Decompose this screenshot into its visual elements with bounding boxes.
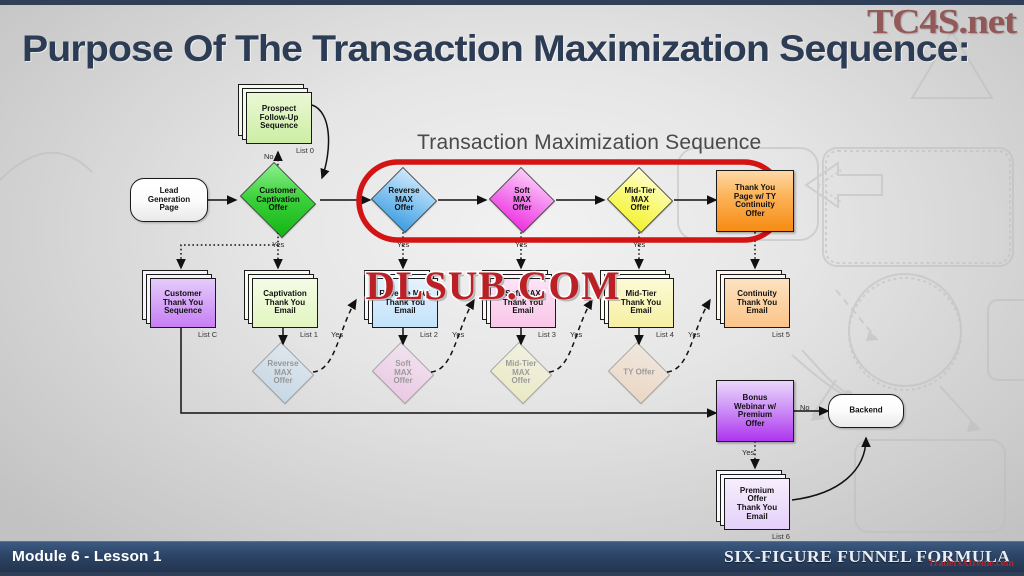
edge-label-yes-soft: Yes bbox=[515, 240, 527, 249]
list-label: List 4 bbox=[656, 330, 674, 339]
diamond-shape bbox=[240, 162, 316, 238]
node-midtier-max-offer[interactable]: Mid-Tier MAX Offer bbox=[606, 168, 674, 232]
node-captivation-thank-you-email[interactable]: Captivation Thank You Email List 1 bbox=[244, 270, 324, 332]
node-reverse-max-offer[interactable]: Reverse MAX Offer bbox=[370, 168, 438, 232]
edge-label-yes-r2: Yes bbox=[331, 330, 343, 339]
node-soft-max-offer-repeat[interactable]: Soft MAX Offer bbox=[370, 344, 436, 402]
node-soft-max-offer[interactable]: Soft MAX Offer bbox=[488, 168, 556, 232]
list-label: List 6 bbox=[772, 532, 790, 541]
node-label: Bonus Webinar w/ Premium Offer bbox=[717, 394, 793, 429]
footer-module-label: Module 6 - Lesson 1 bbox=[12, 548, 162, 565]
doc-sheet-front bbox=[724, 278, 790, 328]
doc-sheet-front bbox=[246, 92, 312, 144]
node-continuity-thank-you-email[interactable]: Continuity Thank You Email List 5 bbox=[716, 270, 796, 332]
doc-sheet-front bbox=[150, 278, 216, 328]
node-thank-you-page[interactable]: Thank You Page w/ TY Continuity Offer bbox=[716, 170, 794, 232]
diamond-shape bbox=[372, 342, 434, 404]
edge-label-no-prospect: No bbox=[264, 152, 274, 161]
node-prospect-followup-sequence[interactable]: Prospect Follow-Up Sequence List 0 bbox=[238, 84, 316, 146]
node-backend[interactable]: Backend bbox=[828, 394, 904, 428]
list-label: List 5 bbox=[772, 330, 790, 339]
node-reverse-max-offer-repeat[interactable]: Reverse MAX Offer bbox=[250, 344, 316, 402]
diamond-shape bbox=[490, 342, 552, 404]
list-label: List C bbox=[198, 330, 217, 339]
list-label: List 2 bbox=[420, 330, 438, 339]
diamond-shape bbox=[608, 342, 670, 404]
list-label: List 3 bbox=[538, 330, 556, 339]
node-customer-captivation-offer[interactable]: Customer Captivation Offer bbox=[236, 166, 320, 234]
bottom-accent-bar bbox=[0, 572, 1024, 576]
node-lead-generation-page[interactable]: Lead Generation Page bbox=[130, 178, 208, 222]
node-customer-thank-you-sequence[interactable]: Customer Thank You Sequence List C bbox=[142, 270, 222, 332]
node-premium-offer-thank-you-email[interactable]: Premium Offer Thank You Email List 6 bbox=[716, 470, 796, 532]
node-midtier-max-offer-repeat[interactable]: Mid-Tier MAX Offer bbox=[488, 344, 554, 402]
node-label: Thank You Page w/ TY Continuity Offer bbox=[717, 184, 793, 219]
list-label: List 0 bbox=[296, 146, 314, 155]
diamond-shape bbox=[371, 167, 437, 233]
edge-label-no-bonus: No bbox=[800, 403, 810, 412]
node-ty-offer-repeat[interactable]: TY Offer bbox=[606, 344, 672, 402]
watermark-dlsub: DLSUB.COM bbox=[365, 262, 620, 309]
doc-sheet-front bbox=[252, 278, 318, 328]
doc-sheet-front bbox=[724, 478, 790, 530]
edge-label-yes-t2: Yes bbox=[688, 330, 700, 339]
diamond-shape bbox=[489, 167, 555, 233]
node-bonus-webinar[interactable]: Bonus Webinar w/ Premium Offer bbox=[716, 380, 794, 442]
edge-label-yes-midtier: Yes bbox=[633, 240, 645, 249]
list-label: List 1 bbox=[300, 330, 318, 339]
edge-label-yes-m2: Yes bbox=[570, 330, 582, 339]
edge-label-yes-captivation: Yes bbox=[272, 240, 284, 249]
edge-label-yes-s2: Yes bbox=[452, 330, 464, 339]
node-label: Backend bbox=[829, 407, 903, 416]
edge-label-yes-reverse: Yes bbox=[397, 240, 409, 249]
footer-bar: Module 6 - Lesson 1 SIX-FIGURE FUNNEL FO… bbox=[0, 541, 1024, 572]
slide-canvas: TC4S.net Purpose Of The Transaction Maxi… bbox=[0, 0, 1024, 576]
node-label: Lead Generation Page bbox=[131, 187, 207, 213]
edge-label-yes-bonus: Yes bbox=[742, 448, 754, 457]
watermark-tradersxtreme: TradersXtreme.com bbox=[928, 558, 1014, 569]
diamond-shape bbox=[607, 167, 673, 233]
diamond-shape bbox=[252, 342, 314, 404]
